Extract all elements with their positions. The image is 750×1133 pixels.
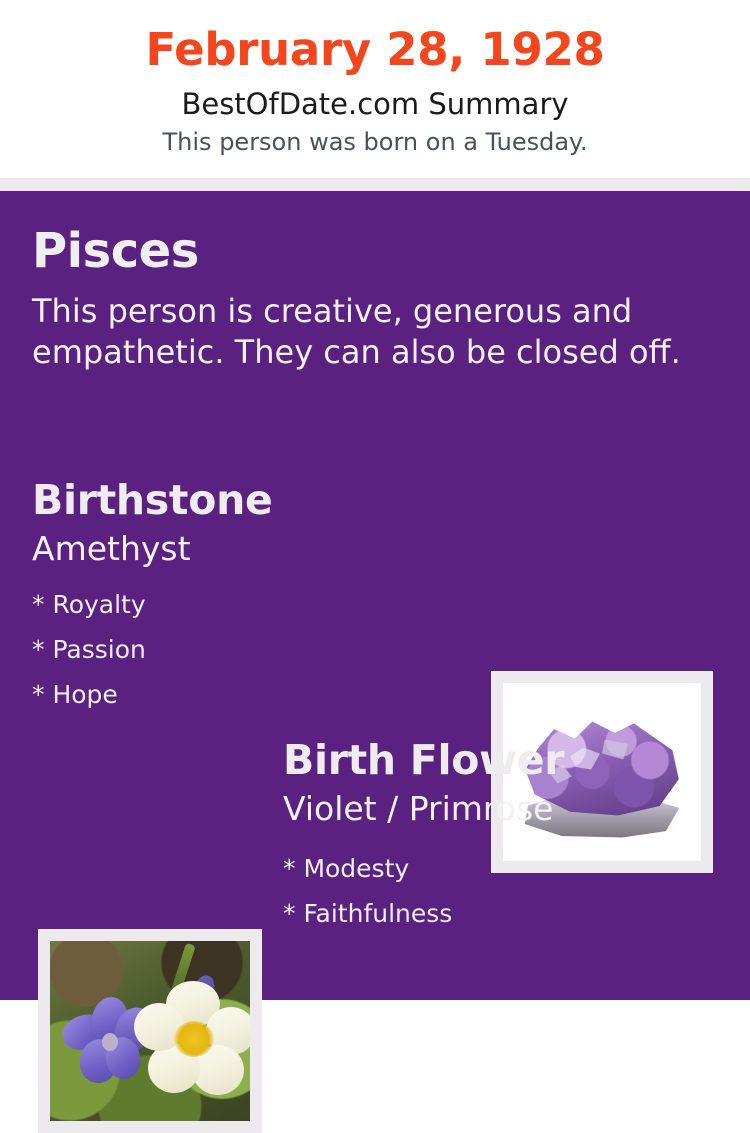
primrose-flower-icon (134, 981, 250, 1099)
list-item: * Passion (32, 627, 412, 672)
birth-flower-heading: Birth Flower (283, 736, 564, 784)
day-of-week-note: This person was born on a Tuesday. (0, 127, 750, 157)
list-item: * Modesty (283, 846, 683, 891)
zodiac-sign-name: Pisces (32, 223, 199, 279)
primrose-center (174, 1021, 214, 1057)
birth-flower-image-frame (38, 929, 262, 1133)
birth-flower-image (50, 941, 250, 1121)
birthstone-name: Amethyst (32, 529, 191, 569)
birthday-summary-card: February 28, 1928 BestOfDate.com Summary… (0, 0, 750, 1000)
list-item: * Royalty (32, 582, 412, 627)
birth-flower-traits-list: * Modesty * Faithfulness (283, 846, 683, 936)
list-item: * Faithfulness (283, 891, 683, 936)
header-divider (0, 178, 750, 191)
birth-flower-name: Violet / Primrose (283, 789, 553, 829)
header: February 28, 1928 BestOfDate.com Summary… (0, 0, 750, 178)
site-subtitle: BestOfDate.com Summary (0, 87, 750, 121)
zodiac-description: This person is creative, generous and em… (32, 291, 704, 373)
violet-center (102, 1033, 118, 1051)
list-item: * Hope (32, 672, 412, 717)
details-panel: Pisces This person is creative, generous… (0, 191, 750, 1000)
page-title: February 28, 1928 (0, 24, 750, 76)
birthstone-traits-list: * Royalty * Passion * Hope (32, 582, 412, 717)
birthstone-heading: Birthstone (32, 476, 272, 524)
